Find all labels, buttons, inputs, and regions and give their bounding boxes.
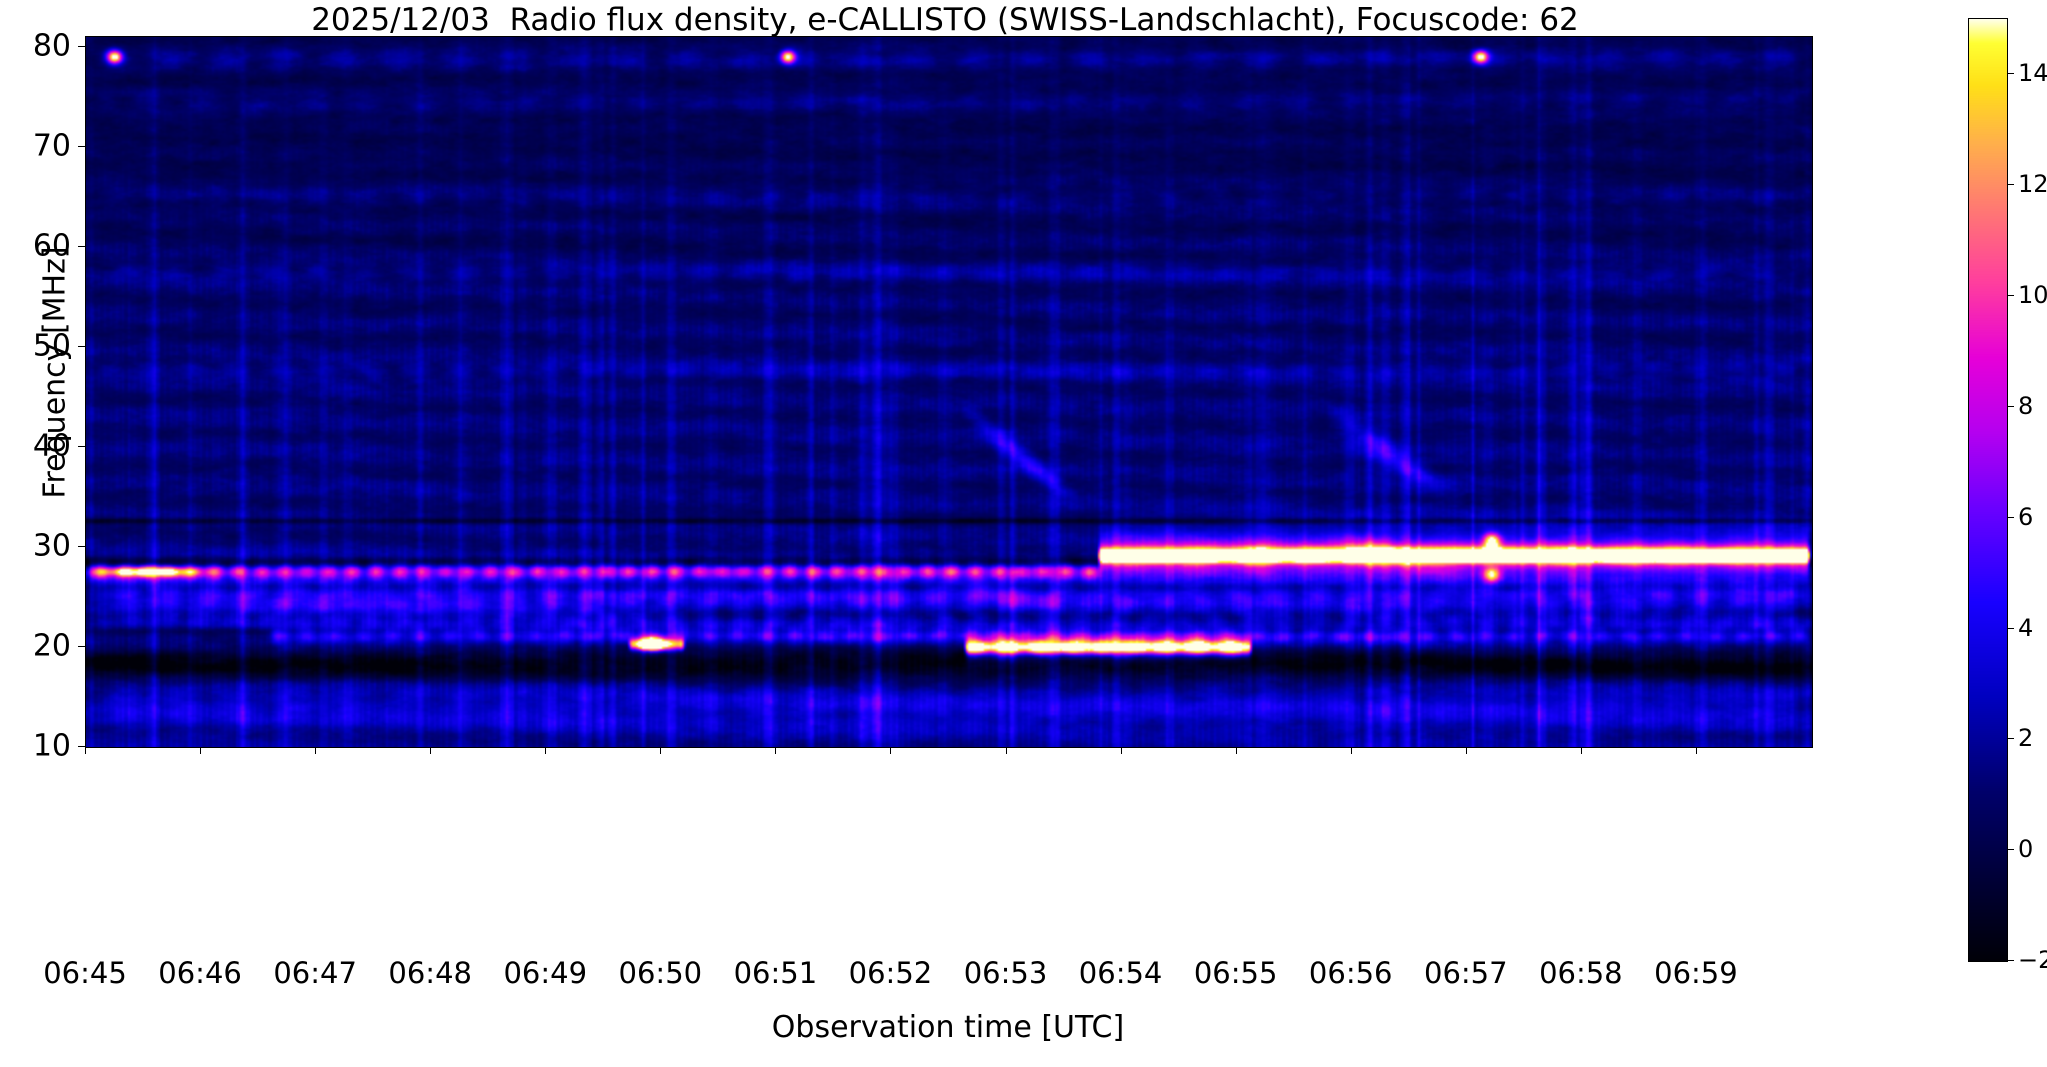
y-tick-mark: [78, 146, 85, 147]
colorbar-tick-mark: [2007, 960, 2014, 961]
y-tick-mark: [78, 646, 85, 647]
y-tick-label: 40: [1, 429, 71, 464]
colorbar-tick-label: 14: [2018, 59, 2047, 87]
x-tick-mark: [890, 747, 891, 754]
colorbar[interactable]: [1968, 18, 2008, 962]
x-tick-mark: [545, 747, 546, 754]
x-axis-label: Observation time [UTC]: [85, 1010, 1811, 1045]
spectrogram-image[interactable]: [86, 37, 1812, 747]
colorbar-tick-label: 6: [2018, 503, 2047, 531]
y-tick-label: 60: [1, 229, 71, 264]
x-tick-mark: [1466, 747, 1467, 754]
x-tick-mark: [315, 747, 316, 754]
y-tick-mark: [78, 546, 85, 547]
colorbar-tick-label: −2: [2018, 946, 2047, 974]
y-tick-mark: [78, 746, 85, 747]
y-tick-label: 20: [1, 629, 71, 664]
colorbar-tick-mark: [2007, 295, 2014, 296]
y-tick-label: 30: [1, 529, 71, 564]
colorbar-tick-mark: [2007, 406, 2014, 407]
x-tick-mark: [430, 747, 431, 754]
spectrogram-figure: 2025/12/03 Radio flux density, e-CALLIST…: [0, 0, 2047, 1067]
colorbar-tick-mark: [2007, 184, 2014, 185]
x-tick-mark: [1581, 747, 1582, 754]
x-tick-mark: [1006, 747, 1007, 754]
x-tick-mark: [1121, 747, 1122, 754]
colorbar-tick-label: 12: [2018, 170, 2047, 198]
y-tick-label: 80: [1, 29, 71, 64]
x-tick-mark: [200, 747, 201, 754]
y-tick-mark: [78, 446, 85, 447]
x-tick-mark: [775, 747, 776, 754]
figure-title: 2025/12/03 Radio flux density, e-CALLIST…: [0, 2, 1890, 38]
colorbar-tick-mark: [2007, 849, 2014, 850]
colorbar-tick-label: 2: [2018, 724, 2047, 752]
colorbar-tick-label: 4: [2018, 614, 2047, 642]
x-tick-mark: [1236, 747, 1237, 754]
colorbar-tick-mark: [2007, 73, 2014, 74]
colorbar-tick-label: 10: [2018, 281, 2047, 309]
x-tick-mark: [1351, 747, 1352, 754]
y-tick-mark: [78, 46, 85, 47]
colorbar-tick-mark: [2007, 517, 2014, 518]
colorbar-tick-mark: [2007, 628, 2014, 629]
colorbar-tick-label: 0: [2018, 835, 2047, 863]
y-tick-label: 50: [1, 329, 71, 364]
colorbar-gradient: [1969, 19, 2007, 961]
y-tick-label: 10: [1, 729, 71, 764]
x-tick-mark: [85, 747, 86, 754]
y-tick-mark: [78, 346, 85, 347]
colorbar-tick-mark: [2007, 738, 2014, 739]
y-tick-mark: [78, 246, 85, 247]
spectrogram-axes[interactable]: [85, 36, 1813, 748]
colorbar-tick-label: 8: [2018, 392, 2047, 420]
x-tick-mark: [660, 747, 661, 754]
x-tick-label: 06:59: [1616, 956, 1776, 990]
y-tick-label: 70: [1, 129, 71, 164]
x-tick-mark: [1696, 747, 1697, 754]
